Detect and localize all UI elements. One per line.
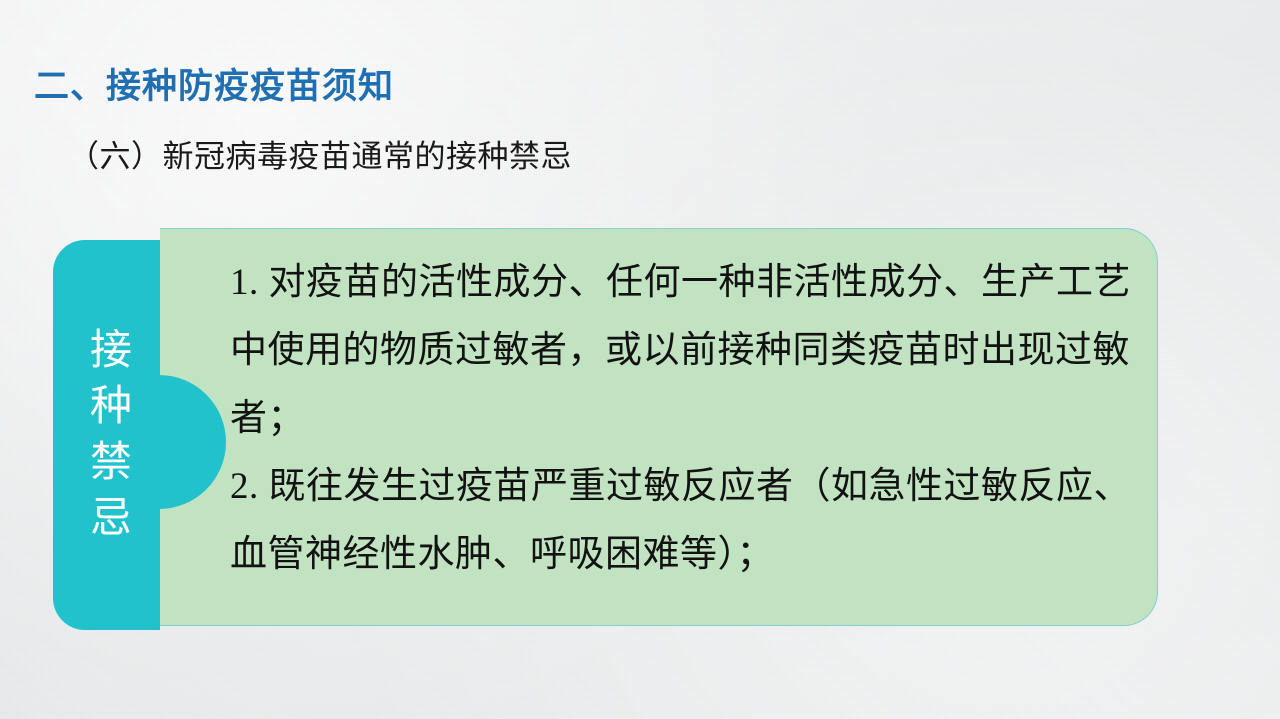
list-item: 1. 对疫苗的活性成分、任何一种非活性成分、生产工艺中使用的物质过敏者，或以前接… [230, 249, 1133, 453]
contraindications-panel: 1. 对疫苗的活性成分、任何一种非活性成分、生产工艺中使用的物质过敏者，或以前接… [160, 228, 1158, 626]
content-area: 1. 对疫苗的活性成分、任何一种非活性成分、生产工艺中使用的物质过敏者，或以前接… [0, 0, 1280, 719]
label-tab: 接种禁忌 [53, 240, 160, 630]
contraindications-list: 1. 对疫苗的活性成分、任何一种非活性成分、生产工艺中使用的物质过敏者，或以前接… [230, 249, 1133, 589]
list-item: 2. 既往发生过疫苗严重过敏反应者（如急性过敏反应、血管神经性水肿、呼吸困难等）… [230, 453, 1133, 589]
slide-canvas: 二、接种防疫疫苗须知 （六）新冠病毒疫苗通常的接种禁忌 1. 对疫苗的活性成分、… [0, 0, 1280, 719]
label-tab-text: 接种禁忌 [86, 320, 128, 551]
